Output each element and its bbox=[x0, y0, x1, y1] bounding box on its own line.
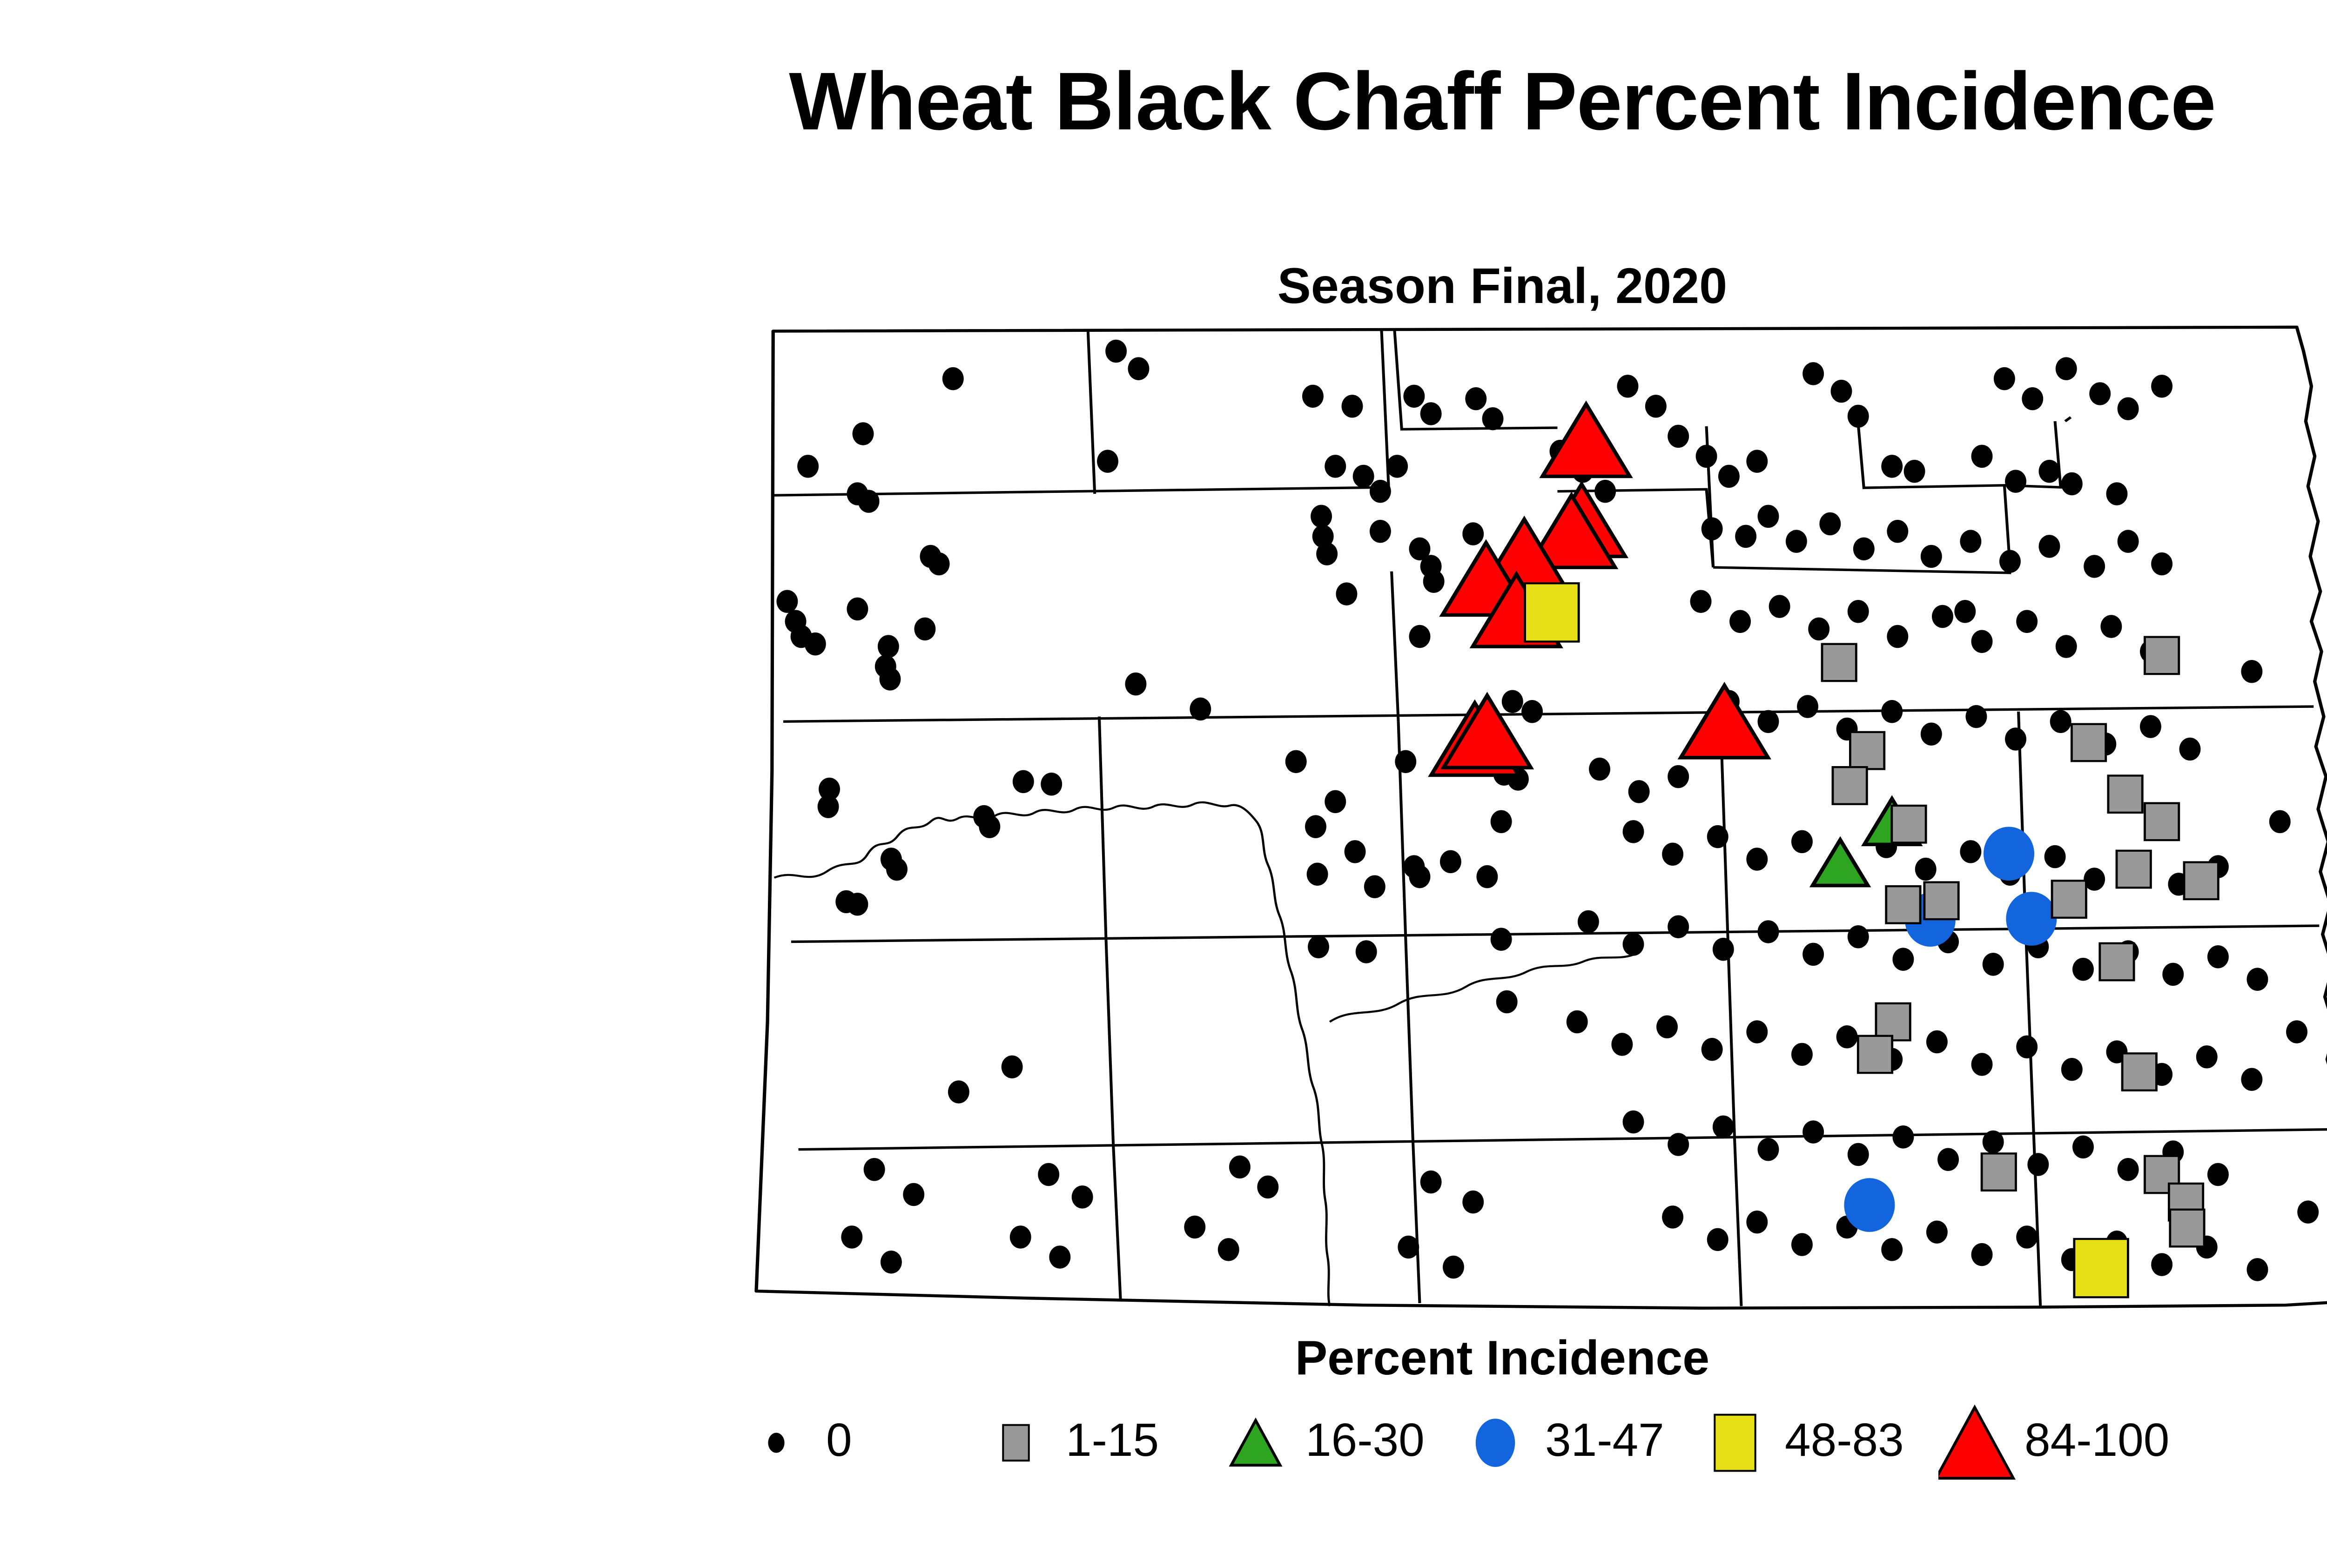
legend-label: 1-15 bbox=[1066, 1417, 1159, 1463]
north-dakota-county-map bbox=[689, 321, 2327, 1317]
legend-symbol-square-icon bbox=[980, 1396, 1063, 1489]
chart-subtitle: Season Final, 2020 bbox=[0, 261, 2327, 311]
legend-symbol-square-icon bbox=[1699, 1396, 1782, 1489]
legend-label: 0 bbox=[826, 1417, 852, 1463]
legend-label: 84-100 bbox=[2024, 1417, 2169, 1463]
legend-symbol-circle-icon bbox=[1459, 1396, 1543, 1489]
page-title: Wheat Black Chaff Percent Incidence bbox=[0, 61, 2327, 142]
legend-title: Percent Incidence bbox=[0, 1334, 2327, 1382]
legend-label: 31-47 bbox=[1545, 1417, 1664, 1463]
map-container bbox=[689, 321, 2327, 1317]
legend-symbol-triangle-icon bbox=[1938, 1396, 2022, 1489]
legend-symbol-circle-small-icon bbox=[740, 1396, 824, 1489]
legend-label: 48-83 bbox=[1785, 1417, 1904, 1463]
legend-symbol-triangle-icon bbox=[1219, 1396, 1303, 1489]
figure-root: Wheat Black Chaff Percent Incidence Seas… bbox=[0, 0, 2327, 1568]
legend: 01-1516-3031-4748-8384-100 bbox=[689, 1396, 2327, 1489]
legend-label: 16-30 bbox=[1305, 1417, 1425, 1463]
